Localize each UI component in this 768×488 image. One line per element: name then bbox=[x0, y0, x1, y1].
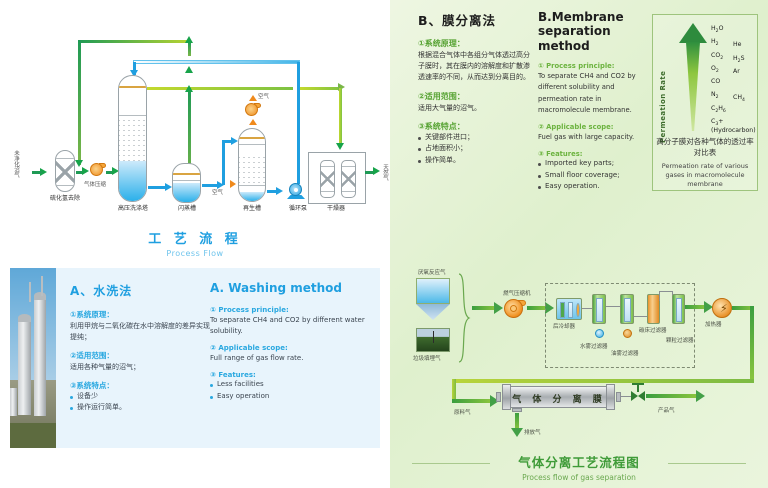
arrow-to-compressor bbox=[494, 302, 503, 314]
pipe-wfilter-to-ofilter bbox=[606, 306, 621, 307]
pipe-flash-out bbox=[202, 184, 218, 187]
left-panel: 未净化沼气 硫化氢去除 气体压缩 bbox=[0, 0, 390, 488]
label-product-gas: 产品气 bbox=[658, 406, 675, 414]
wash-cn-s2-title: ②适用范围： bbox=[70, 350, 210, 361]
plant-photo bbox=[10, 268, 56, 448]
pipe-flash-riser bbox=[222, 140, 225, 185]
label-gas-compression: 气体压缩 bbox=[84, 180, 106, 188]
pipe-yellow-1 bbox=[147, 87, 293, 90]
arrow-up-b bbox=[185, 66, 193, 73]
gas-row: N2CH4 bbox=[711, 91, 757, 104]
unit-oil-mist-filter bbox=[620, 294, 634, 324]
pipe-right-down bbox=[339, 88, 342, 146]
gas-separation-title: 气体分离工艺流程图 Process flow of gas separation bbox=[390, 452, 768, 482]
wash-en-s1-body: To separate CH4 and CO2 by different wat… bbox=[210, 315, 378, 337]
poster-page: 未净化沼气 硫化氢去除 气体压缩 bbox=[0, 0, 768, 488]
mem-cn-s2-title: ②适用范围： bbox=[418, 91, 536, 102]
washing-heading-en: A. Washing method bbox=[210, 282, 378, 296]
mem-cn-s2-body: 适用大气量的沼气。 bbox=[418, 103, 536, 114]
blower-air-out bbox=[245, 103, 261, 116]
mem-en-s3-b3: Easy operation. bbox=[538, 181, 650, 193]
process-flow-title-cn: 工 艺 流 程 bbox=[0, 228, 390, 247]
wash-en-s3-b1: Less facilities bbox=[210, 379, 378, 390]
pipe-ofilter-to-carbon bbox=[634, 316, 647, 317]
membrane-heading-cn: B、膜分离法 bbox=[418, 10, 536, 29]
wash-en-s1-title: ① Process principle: bbox=[210, 306, 378, 314]
icon-water-drop bbox=[595, 329, 604, 338]
chart-gas-list: H2O H2He CO2H2S O2Ar CO N2CH4 C2H6 C3+(H… bbox=[711, 25, 757, 131]
mem-en-s2-title: ② Applicable scope: bbox=[538, 123, 650, 131]
pipe-inlet bbox=[32, 171, 42, 174]
unit-water-mist-filter bbox=[592, 294, 606, 324]
vessel-hp-scrubber bbox=[118, 75, 147, 202]
pipe-to-heater bbox=[685, 305, 706, 309]
wash-cn-s3-b2: 操作运行简单。 bbox=[70, 402, 210, 413]
label-flash-tank: 闪蒸槽 bbox=[162, 206, 212, 213]
process-flow-diagram: 未净化沼气 硫化氢去除 气体压缩 bbox=[0, 0, 390, 262]
pipe-blue-horizontal bbox=[133, 60, 300, 64]
blower-gas-compression bbox=[90, 163, 106, 176]
label-carbon-bed-filter: 碳床过滤器 bbox=[639, 326, 667, 334]
unit-membrane-module: 气 体 分 离 膜 bbox=[500, 386, 618, 408]
washing-method-block: A、水洗法 ①系统原理： 利用甲烷与二氧化碳在水中溶解度的差异实现提纯； ②适用… bbox=[10, 268, 380, 448]
arrow-product-out bbox=[373, 167, 380, 175]
vessel-flash-tank bbox=[172, 163, 201, 203]
arrow-up-a bbox=[185, 36, 193, 43]
mem-cn-s3-b2: 占地面积小； bbox=[418, 143, 536, 155]
gas-separation-diagram: 厌氧反应气 垃圾填埋气 燃气压缩机 bbox=[390, 258, 768, 458]
pipe-riser-a bbox=[188, 42, 191, 56]
membrane-section: B、膜分离法 ①系统原理： 根据混合气体中各组分气体透过高分子膜时，其在膜内的溶… bbox=[390, 0, 768, 200]
label-feed-gas: 原料气 bbox=[454, 408, 471, 416]
membrane-method-en: B.Membrane separation method ① Process p… bbox=[538, 10, 650, 193]
mem-cn-s3-b3: 操作简单。 bbox=[418, 155, 536, 167]
vent-nozzle bbox=[512, 408, 522, 412]
icon-oil-drop bbox=[623, 329, 632, 338]
mem-cn-s1-title: ①系统原理： bbox=[418, 38, 536, 49]
arrow-air-in bbox=[230, 180, 236, 188]
icon-gas-compressor bbox=[504, 299, 526, 318]
wash-cn-s2-body: 适用各种气量的沼气； bbox=[70, 362, 210, 373]
label-air-in: 空气 bbox=[212, 188, 223, 196]
wash-en-s3-title: ③ Features: bbox=[210, 371, 378, 379]
gas-row: CO bbox=[711, 78, 757, 91]
wash-cn-s1-title: ①系统原理： bbox=[70, 309, 210, 320]
gas-row: H2He bbox=[711, 38, 757, 51]
mem-en-s3-b2: Small floor coverage; bbox=[538, 170, 650, 182]
pipe-top-return bbox=[78, 40, 190, 43]
vessel-regeneration-tank bbox=[238, 128, 266, 202]
label-particle-filter: 颗粒过滤器 bbox=[666, 336, 694, 344]
arrow-vent bbox=[511, 428, 523, 437]
washing-heading-cn: A、水洗法 bbox=[70, 282, 210, 299]
landfill-photo bbox=[416, 328, 450, 352]
pipe-pump-riser bbox=[297, 62, 300, 184]
label-aftercooler: 后冷却器 bbox=[553, 322, 575, 330]
unit-aftercooler bbox=[556, 298, 582, 320]
wash-en-s2-body: Full range of gas flow rate. bbox=[210, 353, 378, 364]
pipe-product-out bbox=[646, 394, 698, 398]
permeation-rate-chart: Permeation Rate H2O H2He CO2H2S O2Ar CO … bbox=[652, 14, 758, 191]
arrow-up-c bbox=[185, 85, 193, 92]
gas-row: H2O bbox=[711, 25, 757, 38]
wash-en-s2-title: ② Applicable scope: bbox=[210, 344, 378, 352]
label-landfill-gas: 垃圾填埋气 bbox=[413, 354, 441, 362]
icon-digester bbox=[416, 278, 450, 320]
arrow-air-riser bbox=[249, 119, 257, 125]
pipe-feed-in bbox=[452, 399, 492, 403]
label-air-out: 空气 bbox=[258, 92, 269, 100]
pipe-source-to-compressor bbox=[472, 306, 496, 310]
pipe-left-down bbox=[78, 40, 81, 165]
label-hp-scrubber: 高压洗涤塔 bbox=[108, 206, 158, 213]
brace-icon bbox=[456, 272, 472, 364]
gas-row: O2Ar bbox=[711, 65, 757, 78]
wash-cn-s3-title: ③系统特点： bbox=[70, 380, 210, 391]
chart-y-axis-label: Permeation Rate bbox=[659, 33, 667, 143]
gas-row: C2H6 bbox=[711, 105, 757, 118]
wash-cn-s3-b1: 设备少 bbox=[70, 391, 210, 402]
label-membrane-module: 气 体 分 离 膜 bbox=[510, 392, 608, 405]
washing-method-en: A. Washing method ① Process principle: T… bbox=[210, 282, 378, 402]
mem-cn-s3-title: ③系统特点： bbox=[418, 121, 536, 132]
label-raw-biogas: 未净化沼气 bbox=[12, 150, 20, 178]
pipe-compressor-out bbox=[527, 306, 547, 310]
pipe-scrubber-to-flash bbox=[148, 186, 166, 189]
mem-cn-s3-b1: 关键部件进口； bbox=[418, 132, 536, 144]
arrow-to-pump bbox=[276, 187, 283, 195]
mem-cn-s1-body: 根据混合气体中各组分气体透过高分子膜时，其在膜内的溶解度和扩散渗透速率的不同，从… bbox=[418, 50, 536, 84]
arrow-to-flash bbox=[165, 183, 172, 191]
mem-en-s2-body: Fuel gas with large capacity. bbox=[538, 132, 650, 143]
pipe-to-valve bbox=[621, 396, 631, 397]
arrow-down-left bbox=[75, 160, 83, 167]
label-dryer: 干燥器 bbox=[311, 206, 361, 213]
label-natural-gas: 天然气 bbox=[381, 164, 389, 181]
vessel-dryer bbox=[308, 152, 366, 204]
label-oil-mist-filter: 油雾过滤器 bbox=[611, 349, 639, 357]
label-h2s-removal: 硫化氢去除 bbox=[40, 196, 90, 203]
unit-heater: ⚡ bbox=[712, 298, 732, 318]
label-gas-compressor: 燃气压缩机 bbox=[503, 289, 531, 297]
gas-sep-title-cn: 气体分离工艺流程图 bbox=[390, 452, 768, 471]
arrow-product-gas bbox=[696, 390, 705, 402]
right-panel: B、膜分离法 ①系统原理： 根据混合气体中各组分气体透过高分子膜时，其在膜内的溶… bbox=[390, 0, 768, 488]
chart-caption: 高分子膜对各种气体的透过率对比表 Permeation rate of vari… bbox=[653, 137, 757, 189]
pipe-return-down bbox=[452, 379, 456, 399]
mem-en-s3-b1: Imported key parts; bbox=[538, 158, 650, 170]
process-flow-title-en: Process Flow bbox=[0, 249, 390, 258]
mem-en-s1-title: ① Process principle: bbox=[538, 62, 650, 70]
gas-row: CO2H2S bbox=[711, 52, 757, 65]
washing-method-cn: A、水洗法 ①系统原理： 利用甲烷与二氧化碳在水中溶解度的差异实现提纯； ②适用… bbox=[70, 282, 210, 413]
chart-title-en: Permeation rate of various gases in macr… bbox=[653, 162, 757, 189]
pump-circulation bbox=[287, 183, 305, 199]
label-regeneration-tank: 再生槽 bbox=[227, 206, 277, 213]
pipe-yellow-2 bbox=[300, 87, 342, 90]
process-flow-title: 工 艺 流 程 Process Flow bbox=[0, 228, 390, 258]
arrow-air-out bbox=[249, 95, 257, 101]
pipe-carbon-riser bbox=[659, 291, 660, 301]
label-anaerobic-gas: 厌氧反应气 bbox=[418, 268, 446, 276]
pipe-carbon-top bbox=[659, 291, 673, 292]
unit-particle-filter bbox=[672, 294, 685, 324]
wash-en-s3-b2: Easy operation bbox=[210, 391, 378, 402]
gas-sep-title-en: Process flow of gas separation bbox=[390, 473, 768, 482]
membrane-method-cn: B、膜分离法 ①系统原理： 根据混合气体中各组分气体透过高分子膜时，其在膜内的溶… bbox=[418, 10, 536, 166]
arrow-regen-top bbox=[231, 137, 238, 145]
wash-cn-s1-body: 利用甲烷与二氧化碳在水中溶解度的差异实现提纯； bbox=[70, 321, 210, 343]
label-water-mist-filter: 水雾过滤器 bbox=[580, 342, 608, 350]
pipe-particle-riser bbox=[672, 291, 673, 295]
vessel-h2s-removal bbox=[55, 150, 75, 192]
mem-en-s3-title: ③ Features: bbox=[538, 150, 650, 158]
gas-row: C3+(Hydrocarbon) bbox=[711, 118, 757, 131]
membrane-heading-en: B.Membrane separation method bbox=[538, 10, 650, 53]
arrow-to-blower bbox=[82, 167, 89, 175]
label-heater: 加热器 bbox=[705, 320, 722, 328]
pipe-return-long bbox=[452, 379, 754, 383]
mem-en-s1-body: To separate CH4 and CO2 by different sol… bbox=[538, 71, 650, 116]
pipe-right-down-main bbox=[750, 306, 754, 383]
valve-product[interactable] bbox=[631, 391, 645, 402]
arrow-down-dryer bbox=[336, 143, 344, 150]
permeation-gradient-arrow bbox=[679, 23, 707, 131]
chart-title-cn: 高分子膜对各种气体的透过率对比表 bbox=[653, 137, 757, 159]
label-vent-gas: 排放气 bbox=[524, 428, 541, 436]
